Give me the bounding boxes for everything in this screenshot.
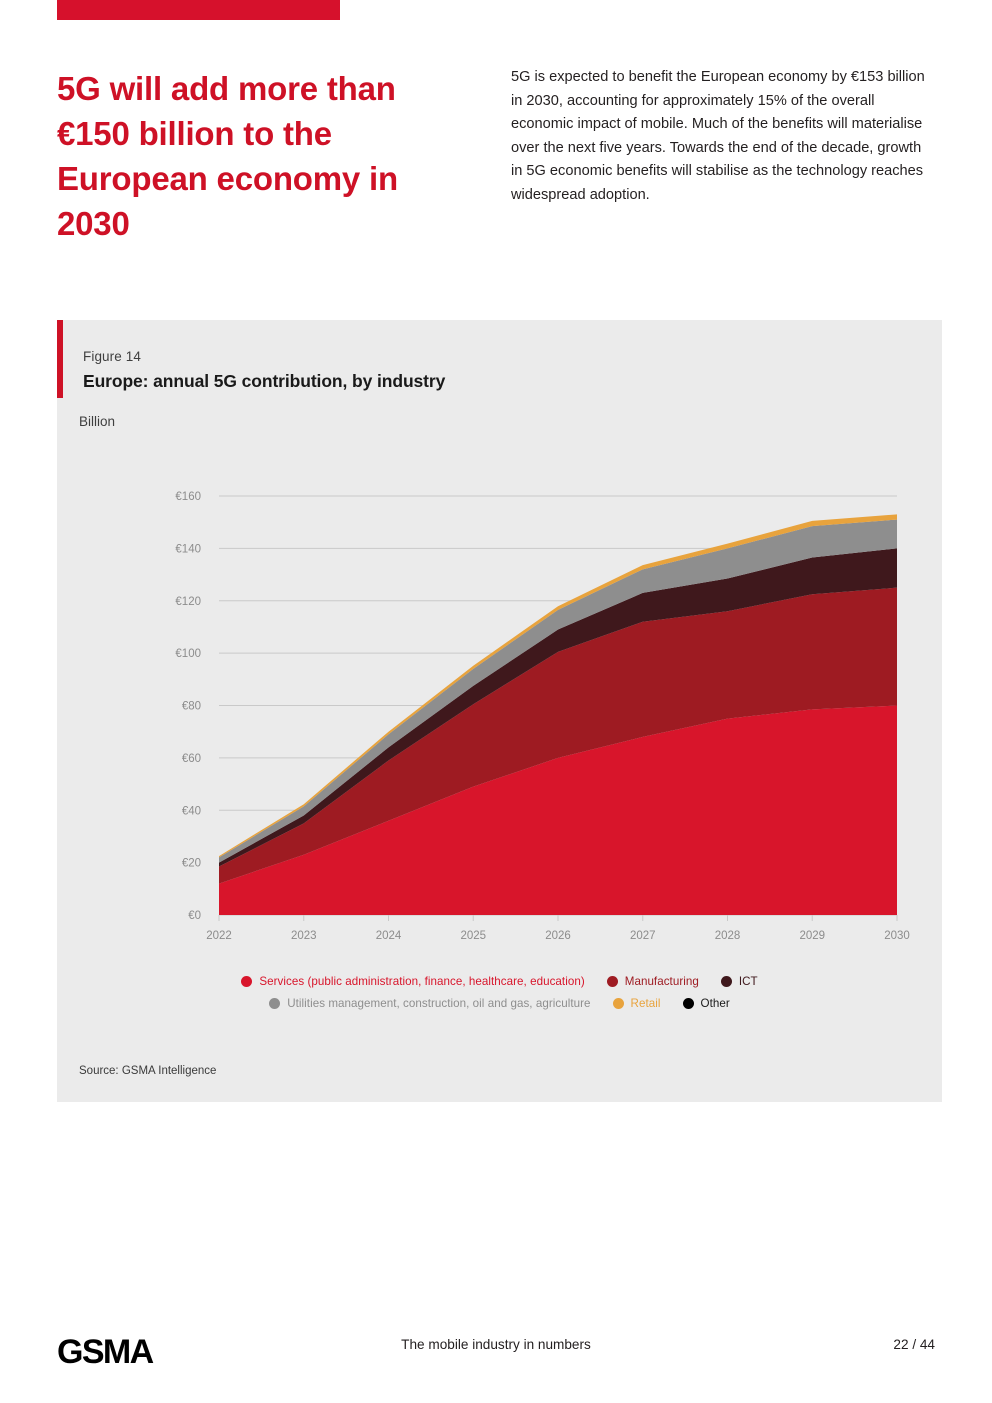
- legend-swatch-icon: [607, 976, 618, 987]
- legend-item[interactable]: Services (public administration, finance…: [241, 975, 584, 988]
- page-headline: 5G will add more than €150 billion to th…: [57, 66, 467, 246]
- legend-swatch-icon: [683, 998, 694, 1009]
- y-axis-tick-label: €120: [175, 596, 201, 608]
- y-axis-tick-label: €20: [182, 858, 201, 870]
- figure-title: Europe: annual 5G contribution, by indus…: [83, 371, 445, 392]
- x-axis-tick-label: 2023: [291, 930, 317, 942]
- legend-item[interactable]: Other: [683, 997, 730, 1010]
- stacked-area-chart: €0€20€40€60€80€100€120€140€1602022202320…: [57, 460, 942, 970]
- legend-row: Utilities management, construction, oil …: [57, 997, 942, 1010]
- legend-item[interactable]: Manufacturing: [607, 975, 699, 988]
- legend-row: Services (public administration, finance…: [57, 975, 942, 988]
- figure-number: Figure 14: [83, 349, 141, 364]
- x-axis-tick-label: 2025: [460, 930, 486, 942]
- legend-label: Manufacturing: [625, 975, 699, 988]
- legend-swatch-icon: [721, 976, 732, 987]
- legend-item[interactable]: Utilities management, construction, oil …: [269, 997, 590, 1010]
- y-axis-tick-label: €40: [182, 805, 201, 817]
- y-axis-tick-label: €0: [188, 910, 201, 922]
- y-axis-tick-label: €60: [182, 753, 201, 765]
- x-axis-tick-label: 2030: [884, 930, 910, 942]
- chart-area: €0€20€40€60€80€100€120€140€1602022202320…: [57, 460, 942, 970]
- legend-label: Retail: [631, 997, 661, 1010]
- legend-label: Other: [701, 997, 730, 1010]
- x-axis-tick-label: 2028: [715, 930, 741, 942]
- figure-accent-bar: [57, 320, 63, 398]
- footer-title: The mobile industry in numbers: [0, 1337, 992, 1352]
- footer-page-number: 22 / 44: [893, 1337, 935, 1352]
- page: 5G will add more than €150 billion to th…: [0, 0, 992, 1403]
- y-axis-tick-label: €80: [182, 701, 201, 713]
- x-axis-tick-label: 2029: [799, 930, 825, 942]
- figure-units-label: Billion: [79, 414, 115, 429]
- legend-label: ICT: [739, 975, 758, 988]
- legend-item[interactable]: ICT: [721, 975, 758, 988]
- x-axis-tick-label: 2027: [630, 930, 656, 942]
- legend-swatch-icon: [269, 998, 280, 1009]
- y-axis-tick-label: €140: [175, 543, 201, 555]
- y-axis-tick-label: €100: [175, 648, 201, 660]
- x-axis-tick-label: 2026: [545, 930, 571, 942]
- legend-label: Services (public administration, finance…: [259, 975, 584, 988]
- intro-paragraph: 5G is expected to benefit the European e…: [511, 66, 931, 208]
- legend-item[interactable]: Retail: [613, 997, 661, 1010]
- x-axis-tick-label: 2024: [376, 930, 402, 942]
- chart-legend: Services (public administration, finance…: [57, 975, 942, 1019]
- x-axis-tick-label: 2022: [206, 930, 232, 942]
- figure-panel: Figure 14 Europe: annual 5G contribution…: [57, 320, 942, 1102]
- legend-swatch-icon: [241, 976, 252, 987]
- y-axis-tick-label: €160: [175, 491, 201, 503]
- top-red-rule: [57, 0, 340, 20]
- legend-label: Utilities management, construction, oil …: [287, 997, 590, 1010]
- figure-source: Source: GSMA Intelligence: [79, 1065, 216, 1077]
- legend-swatch-icon: [613, 998, 624, 1009]
